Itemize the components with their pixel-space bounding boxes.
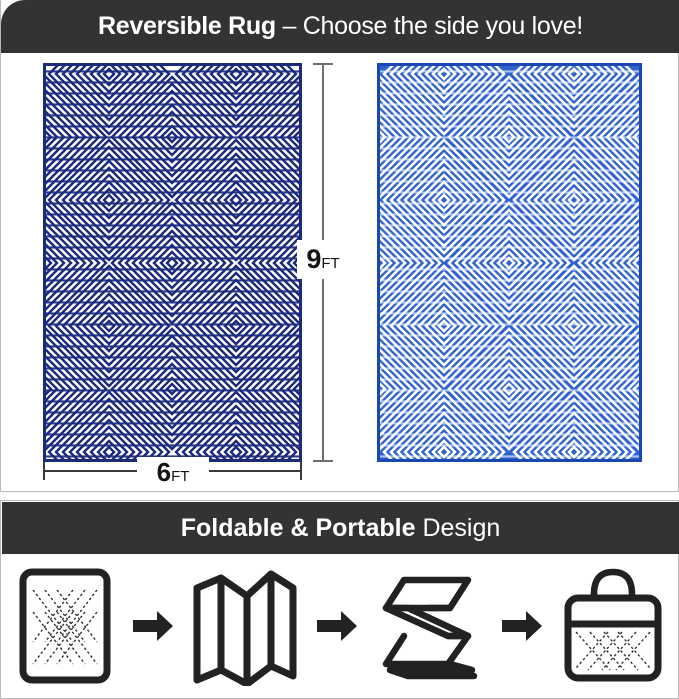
rug-side-a: [43, 63, 302, 462]
folded-rug-icon: [191, 566, 299, 686]
arrow-right-icon: [131, 606, 175, 646]
reversible-rug-panel: Reversible Rug – Choose the side you lov…: [0, 0, 679, 492]
product-infographic: Reversible Rug – Choose the side you lov…: [0, 0, 679, 699]
rug-side-b: [377, 63, 642, 462]
arrow-right-icon: [500, 606, 544, 646]
banner-light-text: – Choose the side you love!: [276, 12, 583, 40]
foldable-portable-banner-text: Foldable & Portable Design: [181, 516, 501, 541]
width-unit: FT: [171, 468, 189, 485]
banner2-bold-text: Foldable & Portable: [181, 514, 416, 542]
height-value: 9: [306, 244, 321, 274]
reversible-rug-banner: Reversible Rug – Choose the side you lov…: [1, 0, 679, 53]
rug-side-b-pattern: [380, 66, 639, 459]
foldable-portable-banner: Foldable & Portable Design: [2, 502, 679, 554]
rug-side-a-pattern: [46, 66, 299, 459]
reversible-rug-banner-text: Reversible Rug – Choose the side you lov…: [98, 14, 583, 39]
foldable-portable-panel: Foldable & Portable Design: [0, 500, 679, 699]
arrow-right-icon: [315, 606, 359, 646]
height-dimension-label: 9FT: [297, 240, 349, 279]
width-dimension-label: 6FT: [137, 457, 209, 488]
carry-bag-icon: [560, 566, 666, 686]
banner2-light-text: Design: [416, 514, 501, 542]
width-value: 6: [157, 457, 171, 487]
foldable-steps: [15, 563, 666, 688]
stacked-fold-icon: [376, 566, 484, 686]
height-unit: FT: [321, 255, 339, 272]
banner-bold-text: Reversible Rug: [98, 12, 276, 40]
flat-rug-icon: [15, 566, 115, 686]
